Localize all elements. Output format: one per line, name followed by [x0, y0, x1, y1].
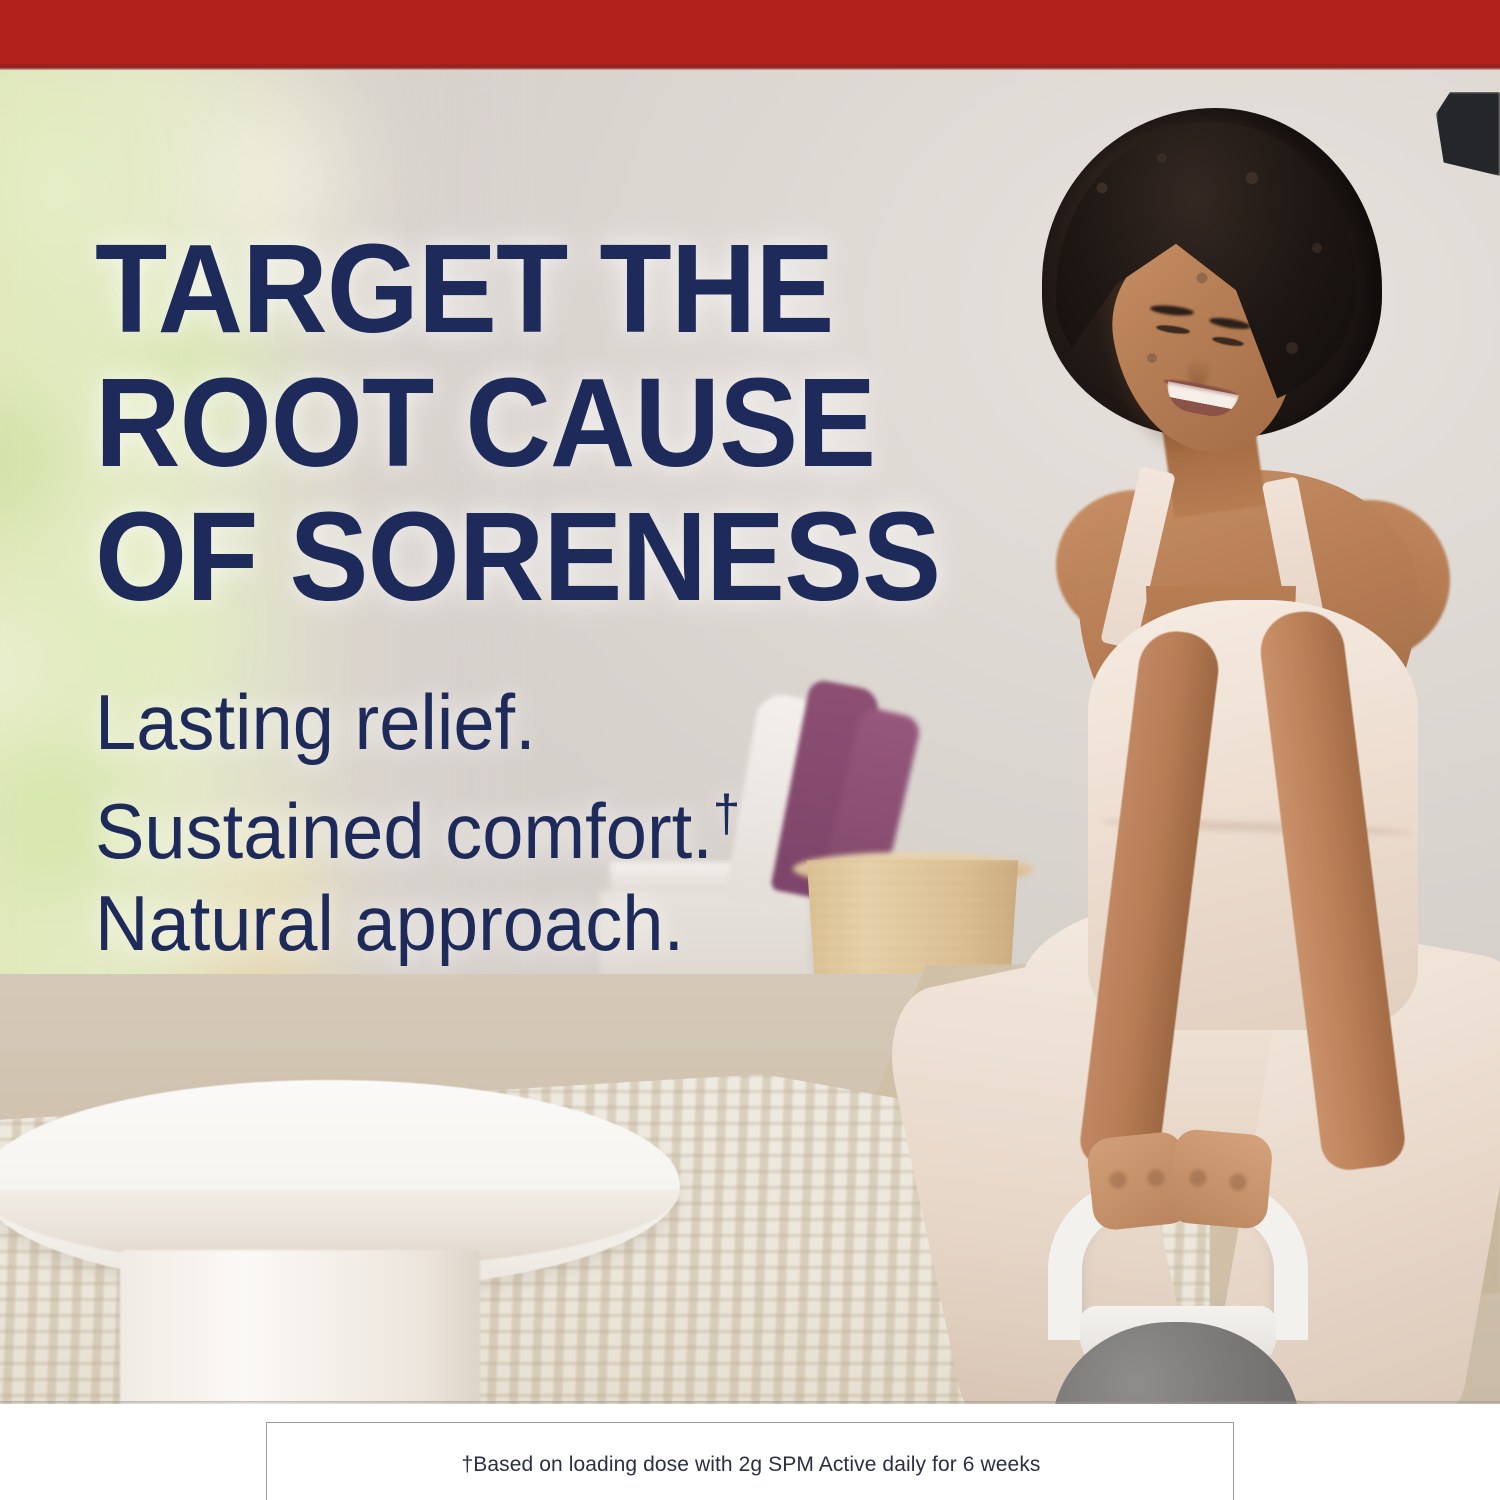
- subcopy-block: Lasting relief. Sustained comfort.† Natu…: [95, 676, 950, 969]
- headline-line-2: ROOT CAUSE: [95, 356, 941, 490]
- headline-line-1: TARGET THE: [95, 222, 941, 356]
- footnote-text: †Based on loading dose with 2g SPM Activ…: [267, 1453, 1235, 1477]
- footnote-box: †Based on loading dose with 2g SPM Activ…: [266, 1422, 1234, 1500]
- subject-hair-texture: [1042, 108, 1382, 438]
- subject-knuckles: [1098, 1162, 1262, 1198]
- hero-photo: TARGET THE ROOT CAUSE OF SORENESS Lastin…: [0, 70, 1500, 1404]
- copy-block: TARGET THE ROOT CAUSE OF SORENESS Lastin…: [95, 222, 995, 969]
- coffee-table-pedestal: [120, 1250, 480, 1404]
- subcopy-line-3: Natural approach.: [95, 877, 950, 969]
- subcopy-line-2: Sustained comfort.†: [95, 768, 950, 877]
- headline-line-3: OF SORENESS: [95, 490, 941, 624]
- subcopy-line-1: Lasting relief.: [95, 676, 950, 768]
- marketing-banner: TARGET THE ROOT CAUSE OF SORENESS Lastin…: [0, 0, 1500, 1500]
- subcopy-line-2-text: Sustained comfort.: [95, 787, 713, 875]
- dagger-marker: †: [713, 785, 740, 843]
- subject-woman: [960, 70, 1500, 1404]
- brand-accent-bar: [0, 0, 1500, 70]
